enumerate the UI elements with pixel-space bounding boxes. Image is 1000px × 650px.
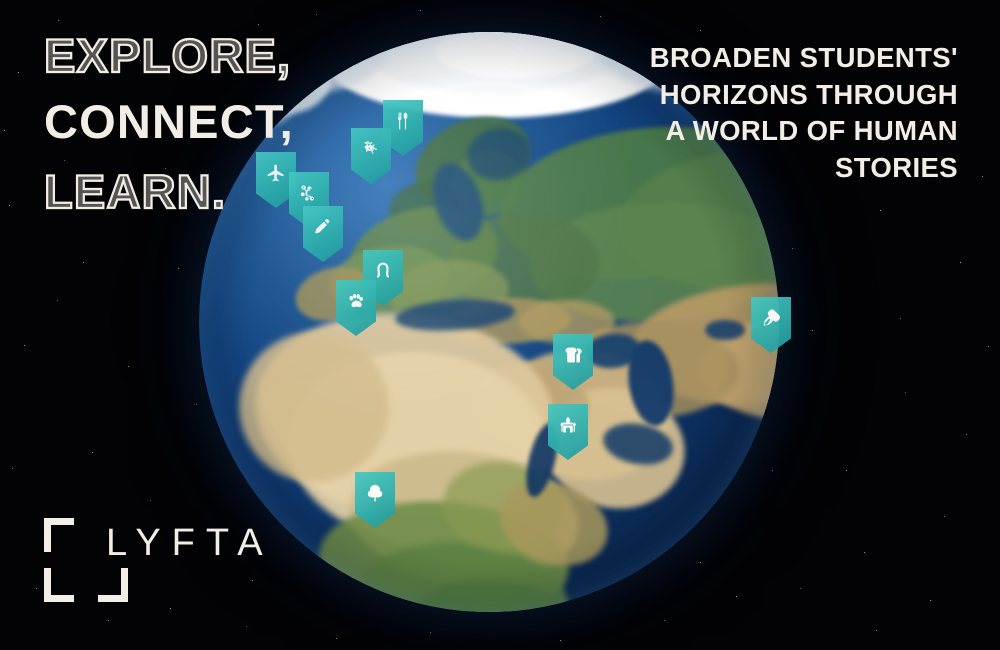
star [246, 626, 247, 627]
bread-icon [563, 345, 583, 365]
horseshoe-icon [373, 261, 393, 281]
star [560, 640, 561, 641]
landmass [239, 332, 389, 482]
star [57, 300, 58, 301]
star [36, 588, 37, 589]
bracket-top-left-icon [44, 518, 74, 552]
poster-canvas: EXPLORE, CONNECT, LEARN. BROADEN STUDENT… [0, 0, 1000, 650]
star [12, 468, 13, 469]
star [128, 366, 129, 367]
star [664, 620, 665, 621]
star [58, 20, 59, 21]
star [700, 562, 701, 563]
star [150, 500, 151, 501]
star [966, 434, 967, 435]
star [876, 630, 877, 631]
star [178, 268, 179, 269]
star [905, 392, 906, 393]
headline-line-connect: CONNECT, [44, 98, 404, 146]
star [960, 262, 961, 263]
reindeer-icon [361, 139, 381, 159]
star [83, 262, 84, 263]
star [4, 130, 5, 131]
mosque-icon [558, 415, 578, 435]
star [982, 176, 983, 177]
star [944, 516, 945, 517]
star [846, 470, 847, 471]
star [700, 30, 701, 31]
tree-icon [365, 483, 385, 503]
star [736, 596, 737, 597]
star [800, 588, 801, 589]
paint-roller-icon [313, 217, 333, 237]
star [92, 452, 93, 453]
tagline-line-4: STORIES [558, 150, 958, 187]
tagline-line-3: A WORLD OF HUMAN [558, 113, 958, 150]
star [18, 72, 19, 73]
star [336, 638, 337, 639]
star [792, 248, 793, 249]
landmass [705, 320, 745, 340]
star [930, 600, 931, 601]
star [430, 632, 431, 633]
bracket-bottom-left-icon [44, 568, 74, 602]
tagline-line-1: BROADEN STUDENTS' [558, 40, 958, 77]
star [600, 16, 601, 17]
bracket-bottom-right-icon [98, 568, 128, 602]
logo-wordmark: LYFTA [106, 524, 274, 562]
page-title: EXPLORE, CONNECT, LEARN. [44, 32, 404, 216]
headline-line-explore: EXPLORE, [44, 32, 404, 80]
paw-print-icon [346, 291, 366, 311]
star [420, 10, 421, 11]
star [988, 346, 989, 347]
microphone-icon [761, 308, 781, 328]
lyfta-logo[interactable]: LYFTA [44, 512, 270, 612]
star [258, 24, 259, 25]
star [316, 14, 317, 15]
star [812, 330, 813, 331]
star [900, 318, 901, 319]
star [196, 404, 197, 405]
cutlery-icon [393, 111, 413, 131]
star [864, 552, 865, 553]
airplane-icon [266, 163, 286, 183]
drone-icon [299, 183, 319, 203]
tagline: BROADEN STUDENTS' HORIZONS THROUGH A WOR… [558, 40, 958, 186]
star [24, 345, 25, 346]
star [880, 210, 881, 211]
star [9, 205, 10, 206]
tagline-line-2: HORIZONS THROUGH [558, 77, 958, 114]
headline-line-learn: LEARN. [44, 168, 404, 216]
star [108, 620, 109, 621]
star [772, 470, 773, 471]
